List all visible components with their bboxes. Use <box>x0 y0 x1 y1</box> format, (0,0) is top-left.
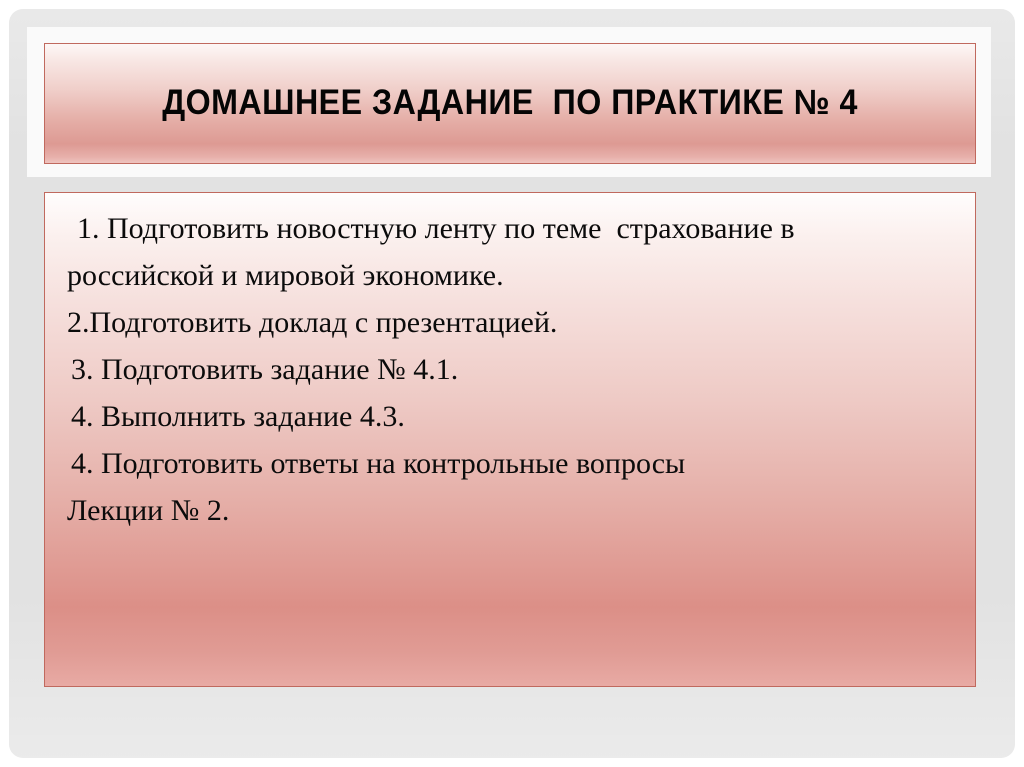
title-box: ДОМАШНЕЕ ЗАДАНИЕ ПО ПРАКТИКЕ № 4 <box>44 43 976 164</box>
slide-title: ДОМАШНЕЕ ЗАДАНИЕ ПО ПРАКТИКЕ № 4 <box>162 84 858 123</box>
list-item: Лекции № 2. <box>67 487 953 534</box>
body-box: 1. Подготовить новостную ленту по теме с… <box>44 192 976 687</box>
list-item: 3. Подготовить задание № 4.1. <box>67 346 953 393</box>
list-item: 4. Выполнить задание 4.3. <box>67 393 953 440</box>
list-item: российской и мировой экономике. <box>67 252 953 299</box>
slide-canvas: ДОМАШНЕЕ ЗАДАНИЕ ПО ПРАКТИКЕ № 4 1. Подг… <box>0 0 1024 767</box>
list-item: 1. Подготовить новостную ленту по теме с… <box>67 205 953 252</box>
list-item: 4. Подготовить ответы на контрольные воп… <box>67 440 953 487</box>
list-item: 2.Подготовить доклад с презентацией. <box>67 299 953 346</box>
slide-bottom-strip <box>27 688 991 748</box>
assignment-list: 1. Подготовить новостную ленту по теме с… <box>67 205 953 534</box>
